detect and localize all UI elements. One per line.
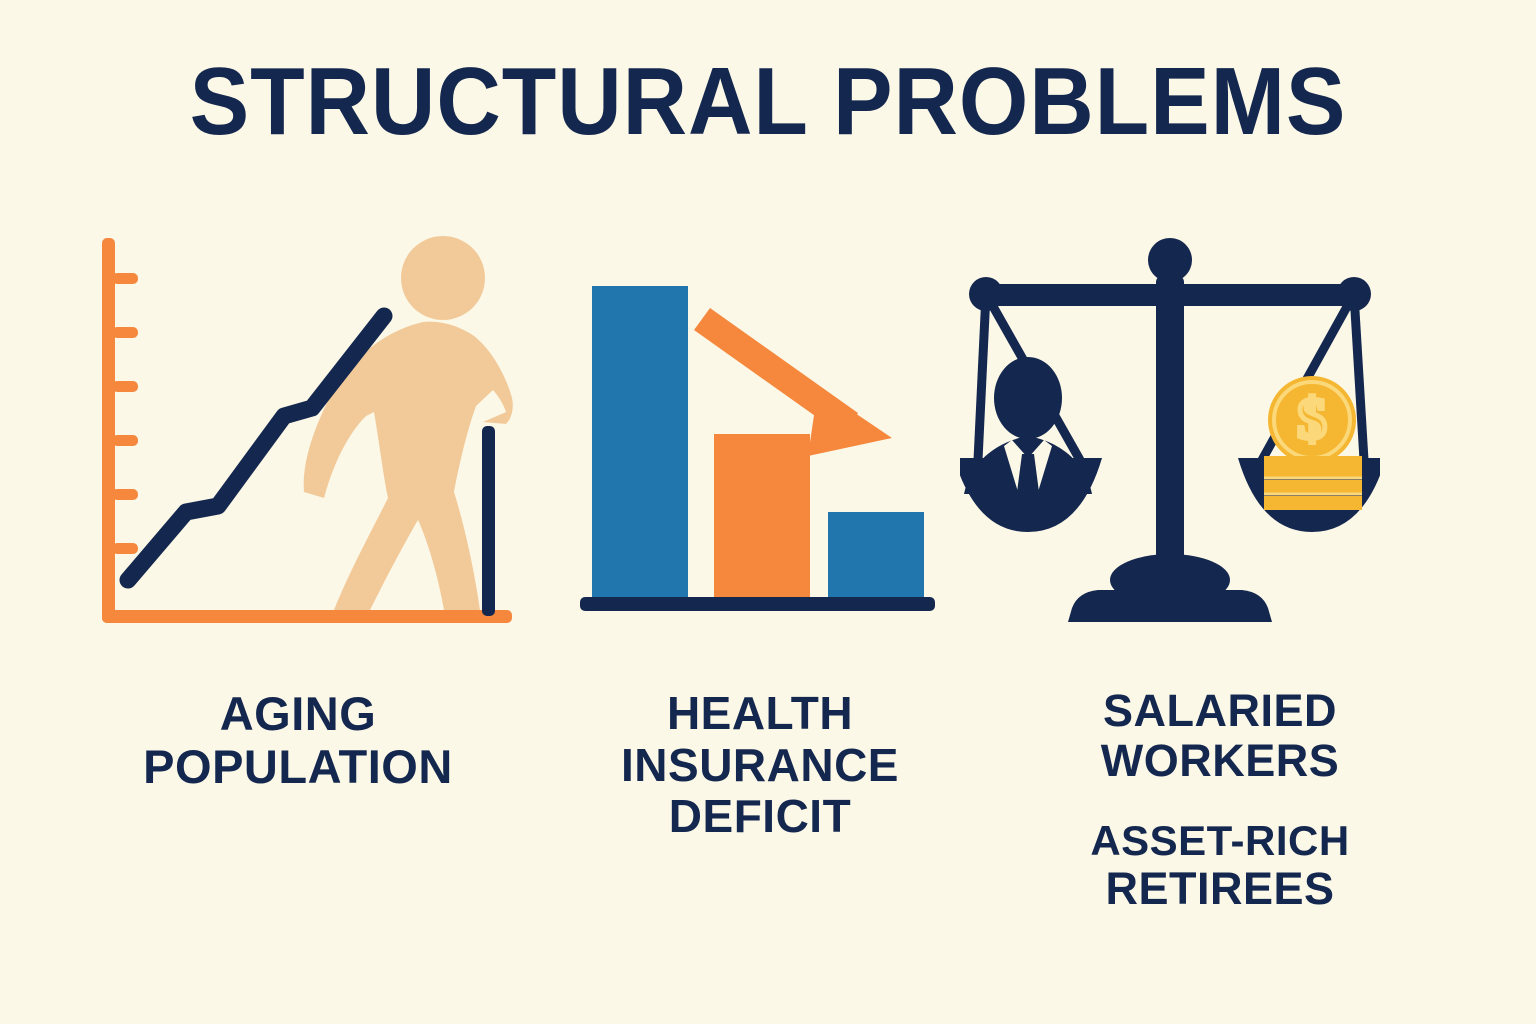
caption-line: AGING — [88, 688, 508, 741]
caption-line: WORKERS — [1010, 736, 1430, 786]
gold-coin-stack: $ — [1264, 376, 1362, 510]
caption-line: DEFICIT — [570, 791, 950, 843]
walking-cane — [482, 426, 495, 616]
caption-health-insurance-deficit: HEALTH INSURANCE DEFICIT — [570, 688, 950, 843]
caption-line: RETIREES — [1010, 864, 1430, 914]
caption-line: SALARIED — [1010, 686, 1430, 736]
caption-line: ASSET-RICH — [1010, 817, 1430, 864]
panel-aging-population — [88, 230, 528, 645]
declining-bar-chart-icon — [570, 230, 940, 640]
page-title: STRUCTURAL PROBLEMS — [54, 52, 1482, 153]
aging-population-line-chart-icon — [88, 230, 528, 640]
panel-health-insurance-deficit — [570, 230, 940, 645]
elderly-person-figure — [304, 236, 513, 610]
balance-scale-icon: $ — [960, 230, 1380, 630]
panel-salaried-vs-retirees: $ — [960, 230, 1380, 635]
bar-2 — [714, 434, 810, 602]
infographic-poster: STRUCTURAL PROBLEMS — [0, 0, 1536, 1024]
rising-trend-line — [128, 316, 384, 580]
caption-salaried-vs-retirees: SALARIED WORKERS ASSET-RICH RETIREES — [1010, 686, 1430, 914]
downward-trend-arrow — [694, 308, 892, 456]
chart-baseline — [580, 597, 935, 611]
bar-1 — [592, 286, 688, 602]
caption-line: INSURANCE — [570, 740, 950, 792]
caption-aging-population: AGING POPULATION — [88, 688, 508, 793]
caption-line: HEALTH — [570, 688, 950, 740]
caption-line: POPULATION — [88, 741, 508, 794]
bar-3 — [828, 512, 924, 602]
coin-dollar-glyph: $ — [1298, 386, 1327, 451]
